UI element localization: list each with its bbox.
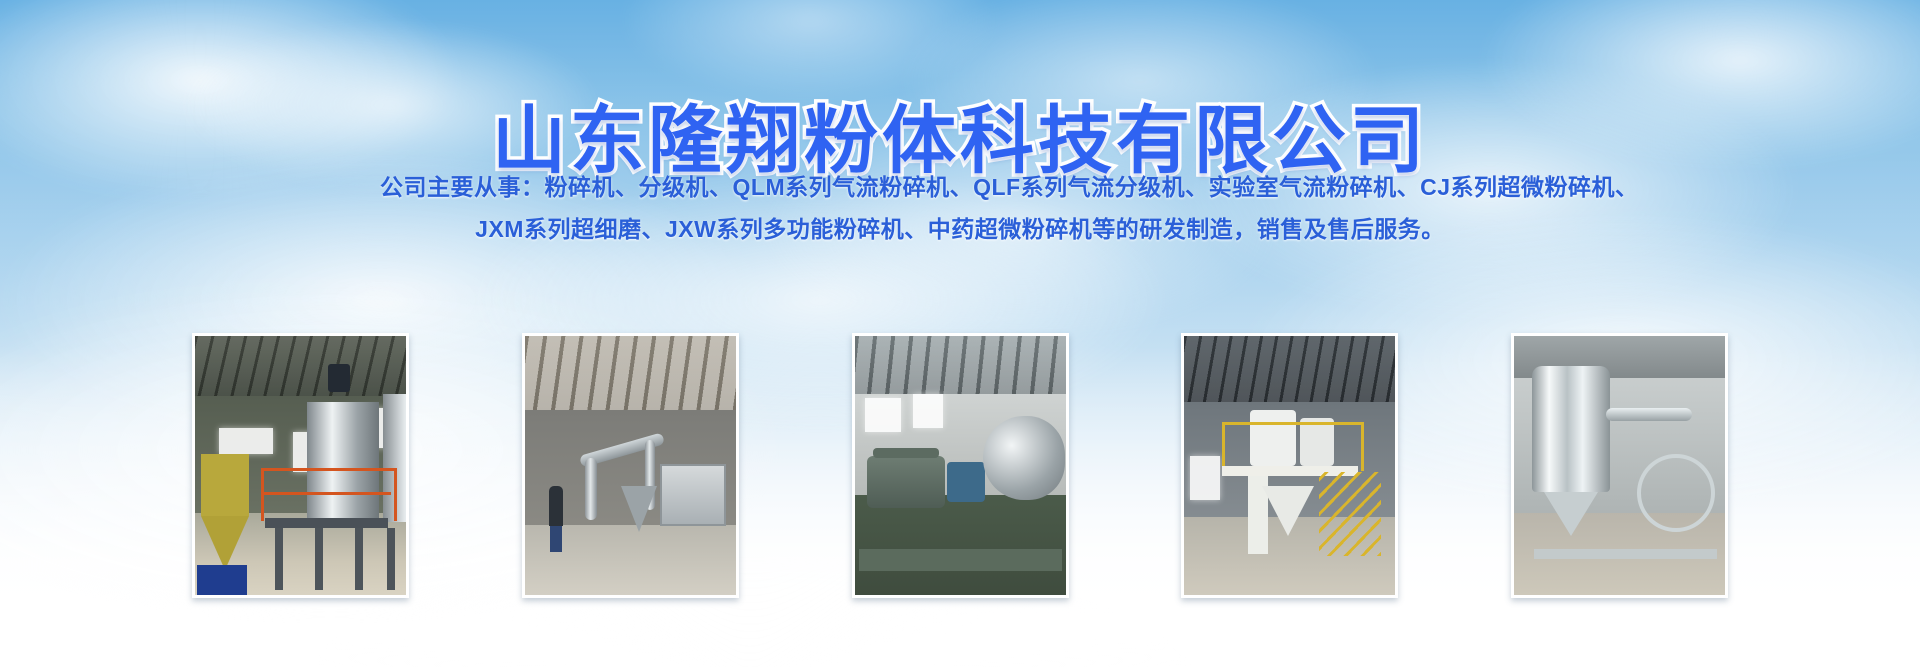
product-photo-gallery	[192, 333, 1728, 598]
description-line-2: JXM系列超细磨、JXW系列多功能粉碎机、中药超微粉碎机等的研发制造，销售及售后…	[380, 208, 1540, 250]
photo-scene	[1514, 336, 1725, 595]
photo-scene	[1184, 336, 1395, 595]
photo-scene	[525, 336, 736, 595]
photo-scene	[195, 336, 406, 595]
gallery-photo-air-classifying-mill-production-line[interactable]	[192, 333, 409, 598]
gallery-photo-stainless-spray-dryer[interactable]	[1511, 333, 1728, 598]
company-hero-banner: 山东隆翔粉体科技有限公司 公司主要从事：粉碎机、分级机、QLM系列气流粉碎机、Q…	[0, 0, 1920, 667]
gallery-photo-workshop-pulverizer-line[interactable]	[522, 333, 739, 598]
company-description: 公司主要从事：粉碎机、分级机、QLM系列气流粉碎机、QLF系列气流分级机、实验室…	[380, 166, 1540, 250]
gallery-photo-blower-and-motor-unit[interactable]	[852, 333, 1069, 598]
photo-scene	[855, 336, 1066, 595]
description-line-1: 公司主要从事：粉碎机、分级机、QLM系列气流粉碎机、QLF系列气流分级机、实验室…	[380, 166, 1540, 208]
gallery-photo-powder-processing-platform[interactable]	[1181, 333, 1398, 598]
